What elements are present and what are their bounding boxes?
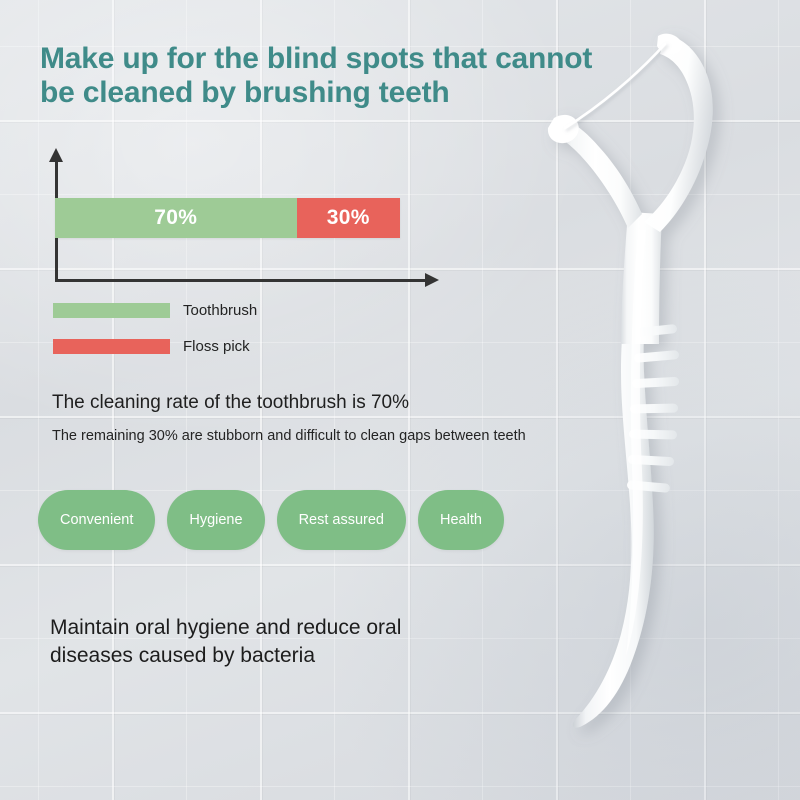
page-title-line-2: be cleaned by brushing teeth	[40, 76, 620, 110]
pill-hygiene: Hygiene	[167, 490, 264, 550]
chart-segment-floss-pick: 30%	[297, 198, 401, 238]
pill-convenient: Convenient	[38, 490, 155, 550]
chart-x-axis	[55, 279, 427, 282]
body-text-secondary: The remaining 30% are stubborn and diffi…	[52, 428, 526, 444]
legend-label-floss-pick: Floss pick	[183, 338, 250, 355]
closing-line-2: diseases caused by bacteria	[50, 642, 520, 670]
chart-x-axis-arrow-icon	[425, 273, 439, 287]
chart-segment-toothbrush: 70%	[55, 198, 297, 238]
closing-line-1: Maintain oral hygiene and reduce oral	[50, 614, 520, 642]
feature-pill-group: Convenient Hygiene Rest assured Health	[38, 490, 504, 550]
stacked-bar-chart: 70% 30%	[44, 148, 464, 298]
chart-legend: Toothbrush Floss pick	[53, 299, 393, 371]
chart-y-axis-arrow-icon	[49, 148, 63, 162]
closing-statement: Maintain oral hygiene and reduce oral di…	[50, 614, 520, 671]
chart-bar: 70% 30%	[55, 198, 400, 238]
page-title-line-1: Make up for the blind spots that cannot	[40, 42, 620, 76]
legend-swatch-floss-pick	[53, 339, 170, 354]
legend-swatch-toothbrush	[53, 303, 170, 318]
legend-item-toothbrush: Toothbrush	[53, 299, 393, 321]
page-title: Make up for the blind spots that cannot …	[40, 42, 620, 110]
pill-rest-assured: Rest assured	[277, 490, 406, 550]
legend-item-floss-pick: Floss pick	[53, 335, 393, 357]
pill-health: Health	[418, 490, 504, 550]
infographic-poster: Make up for the blind spots that cannot …	[0, 0, 800, 800]
legend-label-toothbrush: Toothbrush	[183, 302, 257, 319]
body-text-primary: The cleaning rate of the toothbrush is 7…	[52, 392, 409, 414]
